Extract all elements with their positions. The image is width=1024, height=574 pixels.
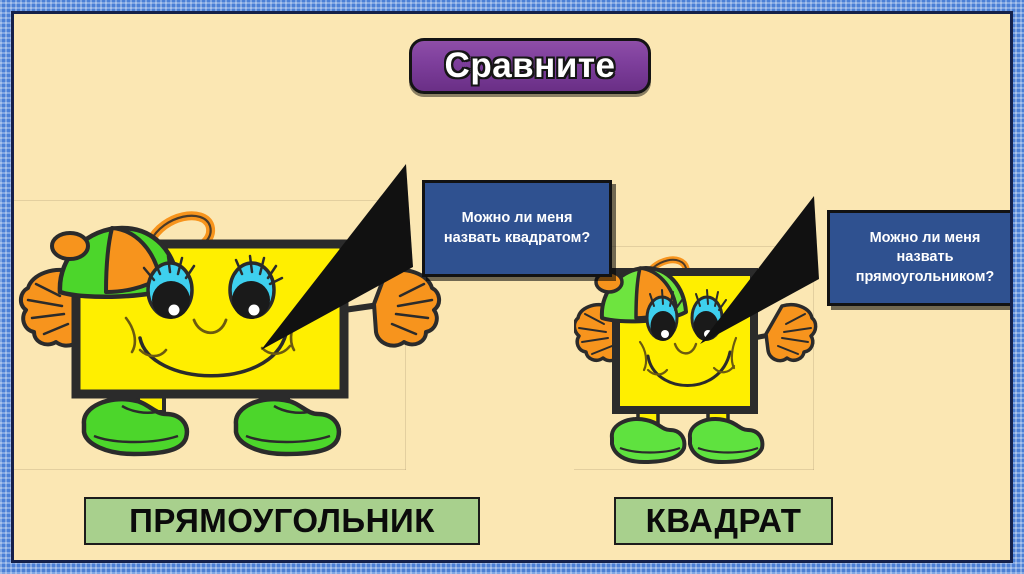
callout-square: Можно ли меня назвать прямоугольником?	[827, 210, 1010, 306]
label-square: КВАДРАТ	[614, 497, 833, 545]
square-character	[574, 246, 818, 470]
callout-square-text: Можно ли меня назвать прямоугольником?	[856, 229, 995, 288]
label-rectangle-text: ПРЯМОУГОЛЬНИК	[129, 502, 435, 540]
label-rectangle: ПРЯМОУГОЛЬНИК	[84, 497, 480, 545]
left-shoe	[84, 399, 187, 454]
rectangle-character	[14, 200, 454, 472]
right-shoe	[690, 419, 763, 462]
page-title: Сравните	[445, 46, 616, 86]
right-shoe	[236, 399, 339, 454]
left-shoe	[612, 419, 685, 462]
slide-canvas: Сравните Можно ли меня назвать квадратом…	[14, 14, 1010, 560]
callout-rectangle: Можно ли меня назвать квадратом?	[422, 180, 612, 277]
callout-rectangle-text: Можно ли меня назвать квадратом?	[444, 209, 590, 248]
slide-frame: Сравните Можно ли меня назвать квадратом…	[0, 0, 1024, 574]
label-square-text: КВАДРАТ	[646, 502, 802, 540]
slide-title: Сравните	[409, 38, 651, 94]
